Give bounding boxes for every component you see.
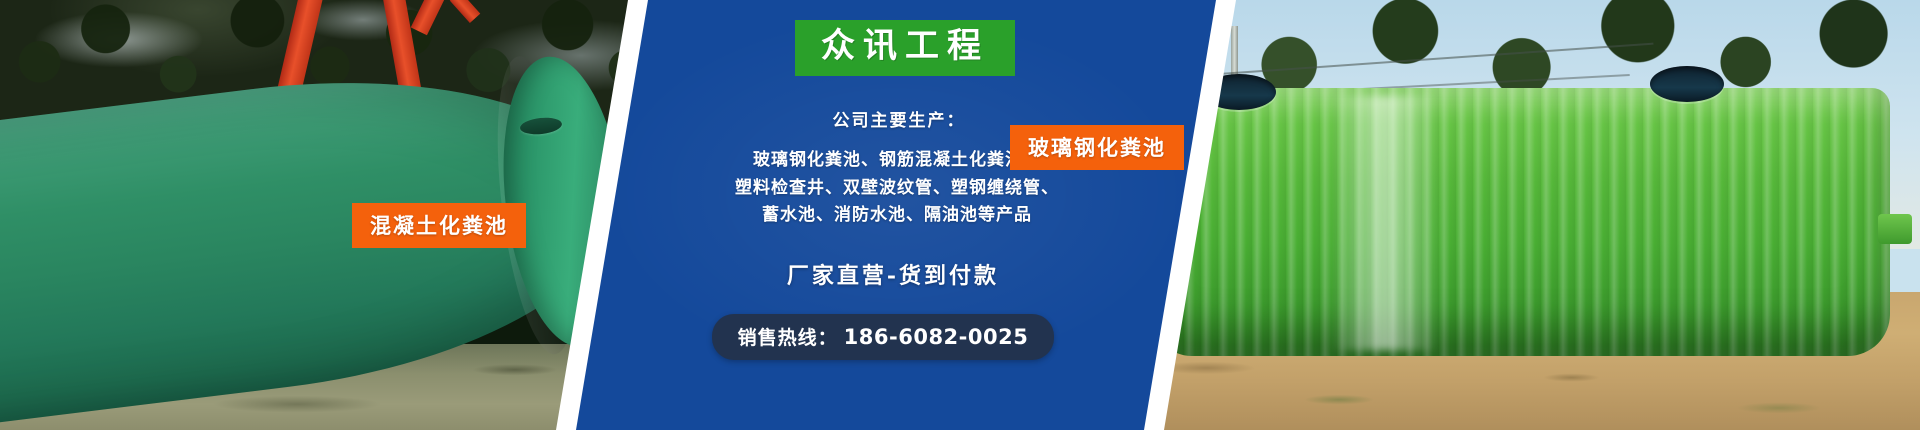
company-name: 众讯工程 <box>821 26 989 66</box>
company-logo-bar: 众讯工程 <box>795 20 1015 76</box>
left-photo-caption-tag: 混凝土化粪池 <box>352 203 526 248</box>
frp-tank-highlight <box>1330 96 1440 350</box>
frp-tank-manhole <box>1650 66 1724 102</box>
product-line: 塑料检查井、双壁波纹管、塑钢缠绕管、 <box>735 175 1059 203</box>
frp-tank-nozzle <box>1878 214 1912 244</box>
frame-leg <box>411 0 447 35</box>
promo-banner: 众讯工程 公司主要生产： 玻璃钢化粪池、钢筋混凝土化粪池、 塑料检查井、双壁波纹… <box>0 0 1920 430</box>
frame-leg <box>450 0 480 23</box>
sales-hotline-pill[interactable]: 销售热线： 186-6082-0025 <box>712 314 1055 360</box>
hotline-label: 销售热线： <box>738 323 838 350</box>
center-info-panel: 众讯工程 公司主要生产： 玻璃钢化粪池、钢筋混凝土化粪池、 塑料检查井、双壁波纹… <box>556 0 1236 430</box>
products-heading: 公司主要生产： <box>833 106 966 131</box>
frp-tank-body <box>1150 88 1890 356</box>
product-line: 蓄水池、消防水池、隔油池等产品 <box>735 202 1059 230</box>
center-panel-content: 众讯工程 公司主要生产： 玻璃钢化粪池、钢筋混凝土化粪池、 塑料检查井、双壁波纹… <box>556 0 1236 430</box>
hotline-phone-number[interactable]: 186-6082-0025 <box>844 325 1029 349</box>
sales-slogan: 厂家直营-货到付款 <box>787 258 999 290</box>
right-photo-caption-tag: 玻璃钢化粪池 <box>1010 125 1184 170</box>
